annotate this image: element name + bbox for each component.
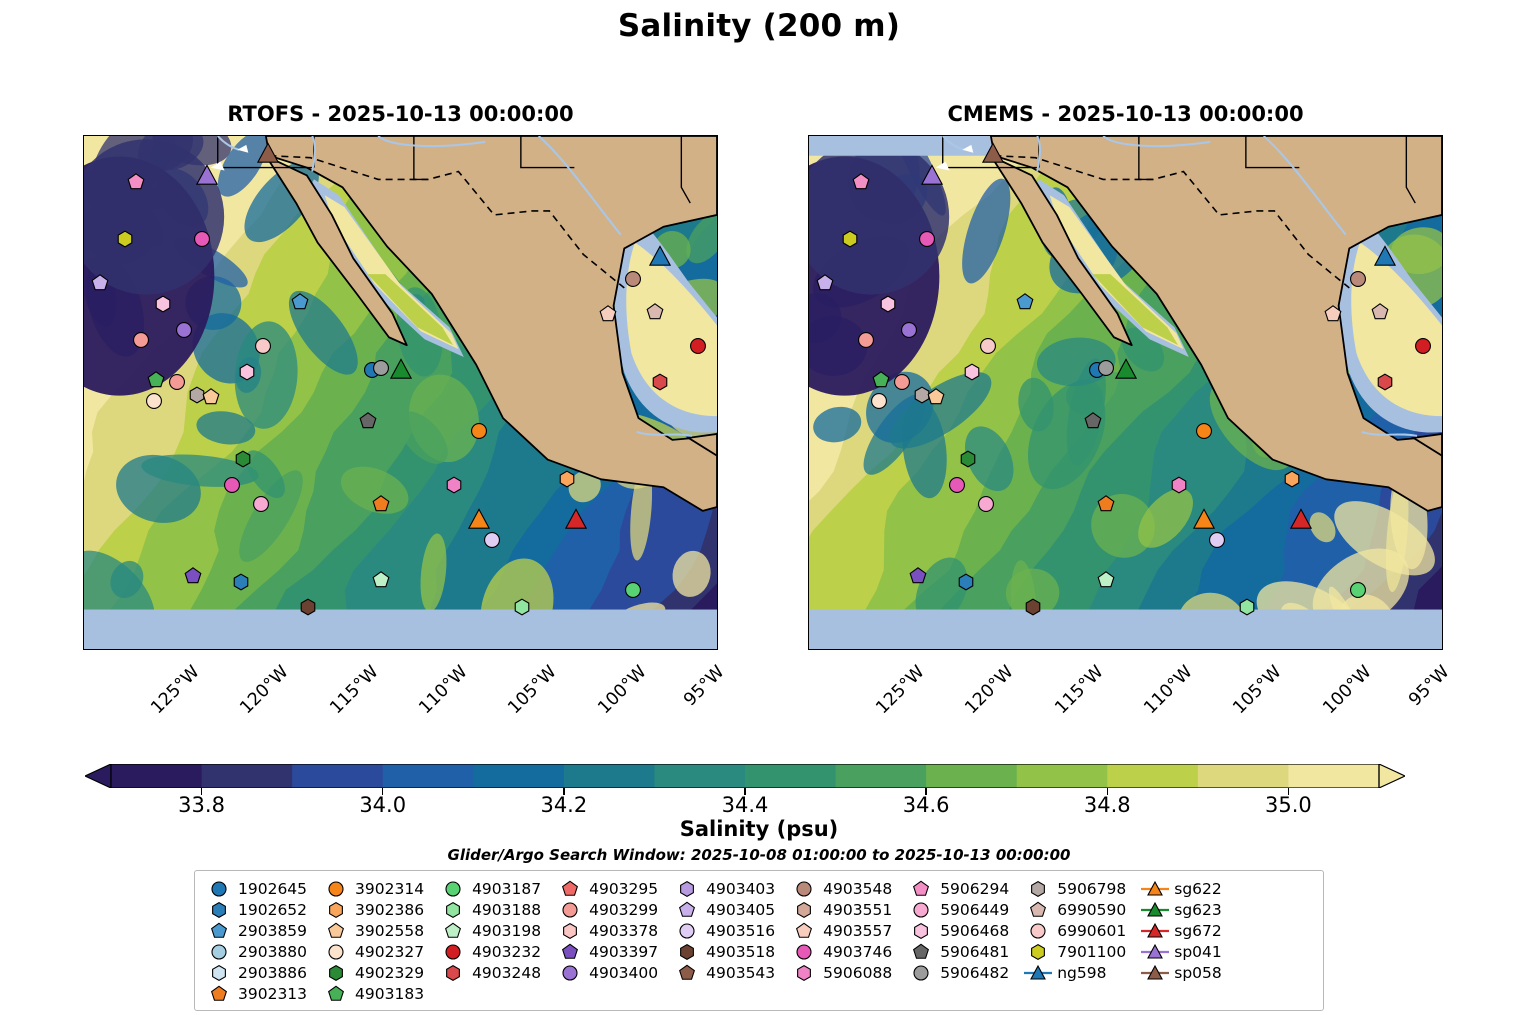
legend-item-5906088[interactable]: 5906088: [789, 962, 892, 983]
x-tick-label: 95°W: [1405, 662, 1453, 710]
platform-marker-3902313[interactable]: [372, 496, 389, 513]
legend-marker-triangle-line-icon: [1140, 964, 1170, 982]
legend-item-ng598[interactable]: ng598: [1023, 962, 1126, 983]
legend-label: 2903880: [234, 943, 307, 961]
x-minor-tick: [611, 649, 612, 650]
y-minor-tick: [808, 227, 809, 228]
legend-column-7: 5906798699059069906017901100ng598: [1023, 878, 1126, 983]
legend-item-sg672[interactable]: sg672: [1140, 920, 1222, 941]
platform-marker-4903746[interactable]: [194, 231, 211, 248]
x-tick-label: 110°W: [415, 662, 471, 718]
legend-item-3902313[interactable]: 3902313: [204, 983, 307, 1004]
x-tick-label: 115°W: [326, 662, 382, 718]
platform-marker-5906468b[interactable]: [238, 363, 255, 380]
legend-label: 7901100: [1053, 943, 1126, 961]
x-minor-tick: [1426, 649, 1427, 650]
legend-item-sp058[interactable]: sp058: [1140, 962, 1222, 983]
map-rtofs[interactable]: 10°N15°N20°N25°N30°N: [83, 135, 718, 650]
platform-marker-4903557[interactable]: [600, 306, 617, 323]
legend-marker-circle-icon: [789, 881, 819, 897]
search-window-text: Glider/Argo Search Window: 2025-10-08 01…: [0, 846, 1518, 864]
x-tick-label: 110°W: [1140, 662, 1196, 718]
panel-rtofs: RTOFS - 2025-10-13 00:00:00 10°N15°N20°N…: [83, 135, 718, 650]
legend-marker-circle-icon: [906, 965, 936, 981]
platform-marker-3902558[interactable]: [928, 389, 945, 406]
platform-marker-sp041[interactable]: [922, 165, 943, 186]
x-minor-tick: [925, 649, 926, 650]
platform-marker-5906449[interactable]: [253, 496, 270, 513]
legend-label: sp041: [1170, 943, 1222, 961]
platform-marker-ng598[interactable]: [1374, 246, 1395, 267]
platform-marker-4903746[interactable]: [919, 231, 936, 248]
x-minor-tick: [1372, 649, 1373, 650]
legend-column-5: 49035484903551490355749037465906088: [789, 878, 892, 983]
legend-item-4903397[interactable]: 4903397: [555, 941, 658, 962]
map-field-rtofs: [84, 136, 717, 649]
platform-marker-3902386[interactable]: [1283, 470, 1300, 487]
legend-label: 3902386: [351, 901, 424, 919]
y-tick: [83, 405, 84, 407]
y-minor-tick: [1442, 623, 1443, 624]
legend-marker-circle-icon: [555, 965, 585, 981]
platform-marker-5906482[interactable]: [1097, 359, 1114, 376]
platform-marker-7901100[interactable]: [842, 231, 859, 248]
y-minor-tick: [83, 563, 84, 564]
platform-marker-4903405[interactable]: [92, 274, 109, 291]
legend-item-4903405[interactable]: 4903405: [672, 899, 775, 920]
legend-label: 4903378: [585, 922, 658, 940]
legend-marker-circle-icon: [438, 944, 468, 960]
platform-marker-5906294[interactable]: [852, 173, 869, 190]
legend-marker-circle-icon: [1023, 923, 1053, 939]
x-tick-label: 120°W: [237, 662, 293, 718]
legend-item-5906449[interactable]: 5906449: [906, 899, 1009, 920]
x-minor-tick: [1265, 649, 1266, 650]
y-tick: [808, 306, 809, 308]
platform-marker-1902652[interactable]: [233, 573, 250, 590]
legend-item-4903299[interactable]: 4903299: [555, 899, 658, 920]
legend-label: 4903403: [702, 880, 775, 898]
colorbar-tick-label: 34.4: [722, 793, 769, 817]
legend-label: 4902329: [351, 964, 424, 982]
y-minor-tick: [717, 425, 718, 426]
y-minor-tick: [83, 543, 84, 544]
platform-marker-4903299[interactable]: [858, 332, 875, 349]
platform-marker-4903248[interactable]: [651, 373, 668, 390]
legend-marker-hexagon-icon: [204, 902, 234, 918]
platform-marker-1902652[interactable]: [958, 573, 975, 590]
legend-label: 3902314: [351, 880, 424, 898]
platform-marker-4903518[interactable]: [1024, 599, 1041, 616]
x-minor-tick: [432, 649, 433, 650]
y-tick: [83, 306, 84, 308]
legend-marker-triangle-line-icon: [1140, 922, 1170, 940]
y-minor-tick: [808, 543, 809, 544]
legend-item-4902329[interactable]: 4902329: [321, 962, 424, 983]
legend-label: 4903746: [819, 943, 892, 961]
legend-item-4903248[interactable]: 4903248: [438, 962, 541, 983]
y-minor-tick: [1442, 464, 1443, 465]
platform-marker-4903232[interactable]: [1414, 337, 1431, 354]
y-minor-tick: [808, 444, 809, 445]
legend-marker-hexagon-icon: [204, 965, 234, 981]
y-minor-tick: [83, 623, 84, 624]
x-minor-tick: [871, 649, 872, 650]
map-field-cmems: [809, 136, 1442, 649]
y-minor-tick: [808, 425, 809, 426]
x-tick-label: 95°W: [680, 662, 728, 710]
platform-marker-sg622[interactable]: [469, 510, 490, 531]
y-minor-tick: [83, 444, 84, 445]
y-minor-tick: [1442, 642, 1443, 643]
platform-marker-4903548[interactable]: [1350, 270, 1367, 287]
platform-marker-4903516[interactable]: [483, 532, 500, 549]
x-tick: [1032, 649, 1034, 650]
platform-marker-3902314[interactable]: [1196, 423, 1213, 440]
legend-label: 4903543: [702, 964, 775, 982]
legend-label: 4903299: [585, 901, 658, 919]
x-minor-tick: [996, 649, 997, 650]
legend-column-4: 49034034903405490351649035184903543: [672, 878, 775, 983]
legend-item-4903188[interactable]: 4903188: [438, 899, 541, 920]
x-minor-tick: [1282, 649, 1283, 650]
legend-item-6990601[interactable]: 6990601: [1023, 920, 1126, 941]
y-minor-tick: [808, 385, 809, 386]
legend-marker-circle-icon: [555, 902, 585, 918]
legend-item-4903378[interactable]: 4903378: [555, 920, 658, 941]
x-minor-tick: [182, 649, 183, 650]
platform-marker-7901100[interactable]: [117, 231, 134, 248]
x-minor-tick: [504, 649, 505, 650]
y-minor-tick: [808, 266, 809, 267]
platform-marker-2903859[interactable]: [292, 294, 309, 311]
legend-item-4902327[interactable]: 4902327: [321, 941, 424, 962]
legend-item-4903295[interactable]: 4903295: [555, 878, 658, 899]
y-minor-tick: [1442, 286, 1443, 287]
legend-label: 4903397: [585, 943, 658, 961]
legend-label: 1902645: [234, 880, 307, 898]
x-minor-tick: [414, 649, 415, 650]
platform-marker-5906294[interactable]: [127, 173, 144, 190]
y-minor-tick: [808, 623, 809, 624]
platform-marker-4903400[interactable]: [901, 322, 918, 339]
y-minor-tick: [1442, 227, 1443, 228]
platform-marker-4903518[interactable]: [299, 599, 316, 616]
legend-marker-circle-icon: [321, 881, 351, 897]
platform-marker-sg672[interactable]: [565, 510, 586, 531]
legend-marker-triangle-line-icon: [1140, 880, 1170, 898]
legend-item-5906482[interactable]: 5906482: [906, 962, 1009, 983]
legend-label: sg622: [1170, 880, 1222, 898]
platform-marker-4903183[interactable]: [872, 371, 889, 388]
platform-marker-5906449[interactable]: [978, 496, 995, 513]
x-tick: [1390, 649, 1392, 650]
x-minor-tick: [1247, 649, 1248, 650]
colorbar-label: Salinity (psu): [0, 817, 1518, 841]
y-minor-tick: [1442, 345, 1443, 346]
y-tick: [717, 405, 718, 407]
legend-label: 4903551: [819, 901, 892, 919]
platform-marker-4903397[interactable]: [185, 567, 202, 584]
platform-marker-4903198[interactable]: [372, 571, 389, 588]
legend-item-4903198[interactable]: 4903198: [438, 920, 541, 941]
platform-marker-4903400[interactable]: [176, 322, 193, 339]
y-minor-tick: [83, 345, 84, 346]
x-minor-tick: [978, 649, 979, 650]
platform-marker-4903299[interactable]: [133, 332, 150, 349]
y-minor-tick: [83, 246, 84, 247]
legend-item-4903551[interactable]: 4903551: [789, 899, 892, 920]
platform-marker-sg623[interactable]: [1115, 359, 1136, 380]
y-minor-tick: [808, 365, 809, 366]
legend-item-4903516[interactable]: 4903516: [672, 920, 775, 941]
legend-label: 4903188: [468, 901, 541, 919]
platform-marker-4903232[interactable]: [689, 337, 706, 354]
x-minor-tick: [1318, 649, 1319, 650]
y-minor-tick: [717, 286, 718, 287]
y-minor-tick: [808, 147, 809, 148]
x-tick: [575, 649, 577, 650]
platform-marker-4903548[interactable]: [625, 270, 642, 287]
y-minor-tick: [83, 365, 84, 366]
colorbar-tick-label: 34.6: [903, 793, 950, 817]
legend-item-6990590[interactable]: 6990590: [1023, 899, 1126, 920]
legend-marker-hexagon-icon: [438, 965, 468, 981]
legend-item-4903183[interactable]: 4903183: [321, 983, 424, 1004]
x-minor-tick: [343, 649, 344, 650]
platform-marker-4903248[interactable]: [1376, 373, 1393, 390]
platform-marker-5906468[interactable]: [154, 296, 171, 313]
x-minor-tick: [1157, 649, 1158, 650]
legend-item-sg622[interactable]: sg622: [1140, 878, 1222, 899]
legend-label: 4903516: [702, 922, 775, 940]
legend-item-5906294[interactable]: 5906294: [906, 878, 1009, 899]
x-minor-tick: [1354, 649, 1355, 650]
legend-marker-hexagon-icon: [1023, 944, 1053, 960]
y-tick: [717, 306, 718, 308]
y-minor-tick: [83, 583, 84, 584]
colorbar-tick-label: 33.8: [178, 793, 225, 817]
legend-item-2903859[interactable]: 2903859: [204, 920, 307, 941]
platform-marker-4903299b[interactable]: [894, 373, 911, 390]
y-minor-tick: [717, 623, 718, 624]
platform-marker-4902329[interactable]: [235, 450, 252, 467]
platform-marker-4903746b[interactable]: [949, 476, 966, 493]
y-tick: [83, 207, 84, 209]
y-minor-tick: [83, 227, 84, 228]
x-minor-tick: [164, 649, 165, 650]
legend-marker-hexagon-icon: [789, 965, 819, 981]
platform-marker-4902327[interactable]: [870, 393, 887, 410]
platform-marker-6990601[interactable]: [254, 337, 271, 354]
colorbar-tick-label: 34.2: [540, 793, 587, 817]
x-tick-label: 105°W: [1230, 662, 1286, 718]
platform-marker-5906468[interactable]: [879, 296, 896, 313]
x-minor-tick: [889, 649, 890, 650]
legend-marker-pentagon-icon: [321, 923, 351, 939]
legend-item-2903886[interactable]: 2903886: [204, 962, 307, 983]
y-minor-tick: [717, 345, 718, 346]
platform-marker-4903746b[interactable]: [224, 476, 241, 493]
platform-marker-2903859[interactable]: [1017, 294, 1034, 311]
y-minor-tick: [1442, 326, 1443, 327]
platform-marker-4903188[interactable]: [514, 599, 531, 616]
platform-marker-sp041[interactable]: [197, 165, 218, 186]
y-minor-tick: [808, 187, 809, 188]
legend-column-2: 49031874903188490319849032324903248: [438, 878, 541, 983]
legend-marker-hexagon-icon: [555, 923, 585, 939]
x-minor-tick: [835, 649, 836, 650]
x-tick: [396, 649, 398, 650]
x-minor-tick: [146, 649, 147, 650]
x-minor-tick: [1408, 649, 1409, 650]
platform-marker-sg672[interactable]: [1290, 510, 1311, 531]
y-minor-tick: [83, 385, 84, 386]
x-tick: [486, 649, 488, 650]
platform-marker-5906468b[interactable]: [963, 363, 980, 380]
platform-marker-5906088[interactable]: [1171, 476, 1188, 493]
platform-marker-5906482[interactable]: [372, 359, 389, 376]
x-minor-tick: [1014, 649, 1015, 650]
x-tick-label: 125°W: [872, 662, 928, 718]
y-minor-tick: [1442, 187, 1443, 188]
legend-marker-hexagon-icon: [321, 965, 351, 981]
legend-marker-hexagon-icon: [1023, 881, 1053, 897]
legend-item-4903746[interactable]: 4903746: [789, 941, 892, 962]
platform-marker-4903299b[interactable]: [169, 373, 186, 390]
platform-marker-4903405[interactable]: [817, 274, 834, 291]
colorbar-tick-label: 35.0: [1265, 793, 1312, 817]
y-minor-tick: [717, 365, 718, 366]
platform-marker-4902329[interactable]: [960, 450, 977, 467]
legend-item-3902558[interactable]: 3902558: [321, 920, 424, 941]
legend-item-7901100[interactable]: 7901100: [1023, 941, 1126, 962]
legend-item-sg623[interactable]: sg623: [1140, 899, 1222, 920]
x-minor-tick: [593, 649, 594, 650]
legend-column-3: 49032954903299490337849033974903400: [555, 878, 658, 983]
platform-marker-4902327[interactable]: [145, 393, 162, 410]
legend-item-3902314[interactable]: 3902314: [321, 878, 424, 899]
legend-item-1902652[interactable]: 1902652: [204, 899, 307, 920]
platform-marker-3902314[interactable]: [471, 423, 488, 440]
legend-item-4903403[interactable]: 4903403: [672, 878, 775, 899]
legend-marker-pentagon-icon: [672, 902, 702, 918]
platform-marker-6990590[interactable]: [1371, 304, 1388, 321]
legend-label: 4903232: [468, 943, 541, 961]
platform-marker-3902386[interactable]: [558, 470, 575, 487]
legend-item-4903518[interactable]: 4903518: [672, 941, 775, 962]
x-minor-tick: [683, 649, 684, 650]
legend-label: sg623: [1170, 901, 1222, 919]
x-minor-tick: [557, 649, 558, 650]
y-minor-tick: [717, 227, 718, 228]
legend-item-sp041[interactable]: sp041: [1140, 941, 1222, 962]
legend-item-4903400[interactable]: 4903400: [555, 962, 658, 983]
legend-marker-pentagon-icon: [321, 986, 351, 1002]
legend-item-4903557[interactable]: 4903557: [789, 920, 892, 941]
legend-label: 4903518: [702, 943, 775, 961]
legend-item-4903548[interactable]: 4903548: [789, 878, 892, 899]
platform-marker-5906481[interactable]: [360, 413, 377, 430]
y-minor-tick: [1442, 583, 1443, 584]
platform-marker-5906481[interactable]: [1085, 413, 1102, 430]
legend-item-4903187[interactable]: 4903187: [438, 878, 541, 899]
y-minor-tick: [83, 147, 84, 148]
platform-marker-4903187[interactable]: [625, 581, 642, 598]
platform-marker-4903198[interactable]: [1097, 571, 1114, 588]
legend-marker-pentagon-icon: [204, 923, 234, 939]
y-minor-tick: [1442, 484, 1443, 485]
legend-item-5906481[interactable]: 5906481: [906, 941, 1009, 962]
x-minor-tick: [1104, 649, 1105, 650]
x-minor-tick: [1086, 649, 1087, 650]
y-tick: [1442, 306, 1443, 308]
platform-marker-4903516[interactable]: [1208, 532, 1225, 549]
legend-item-5906798[interactable]: 5906798: [1023, 878, 1126, 899]
y-minor-tick: [1442, 444, 1443, 445]
legend-item-1902645[interactable]: 1902645: [204, 878, 307, 899]
map-cmems[interactable]: 10°N15°N20°N25°N30°N: [808, 135, 1443, 650]
legend-item-4903543[interactable]: 4903543: [672, 962, 775, 983]
x-minor-tick: [271, 649, 272, 650]
platform-marker-sg623[interactable]: [390, 359, 411, 380]
x-minor-tick: [1050, 649, 1051, 650]
platform-marker-4903397[interactable]: [910, 567, 927, 584]
platform-marker-4903188[interactable]: [1239, 599, 1256, 616]
platform-marker-5906088[interactable]: [446, 476, 463, 493]
platform-marker-6990601[interactable]: [979, 337, 996, 354]
legend-column-0: 1902645190265229038592903880290388639023…: [204, 878, 307, 1004]
platform-marker-sg622[interactable]: [1194, 510, 1215, 531]
platform-marker-sp058[interactable]: [258, 143, 279, 164]
legend-marker-pentagon-icon: [789, 923, 819, 939]
y-minor-tick: [717, 246, 718, 247]
y-minor-tick: [808, 563, 809, 564]
y-tick: [808, 504, 809, 506]
y-tick: [808, 603, 809, 605]
legend-item-3902386[interactable]: 3902386: [321, 899, 424, 920]
y-minor-tick: [83, 286, 84, 287]
legend-label: 4903187: [468, 880, 541, 898]
x-minor-tick: [817, 649, 818, 650]
legend-marker-hexagon-icon: [438, 902, 468, 918]
colorbar-tick-label: 34.0: [359, 793, 406, 817]
legend-label: 5906482: [936, 964, 1009, 982]
legend-item-5906468[interactable]: 5906468: [906, 920, 1009, 941]
y-minor-tick: [808, 464, 809, 465]
y-minor-tick: [717, 147, 718, 148]
y-minor-tick: [83, 642, 84, 643]
x-tick: [1121, 649, 1123, 650]
x-minor-tick: [907, 649, 908, 650]
platform-marker-4903183[interactable]: [147, 371, 164, 388]
x-tick: [128, 649, 130, 650]
legend-item-2903880[interactable]: 2903880: [204, 941, 307, 962]
y-tick: [1442, 207, 1443, 209]
platform-marker-3902313[interactable]: [1097, 496, 1114, 513]
y-minor-tick: [83, 167, 84, 168]
platform-marker-6990590[interactable]: [646, 304, 663, 321]
legend-item-4903232[interactable]: 4903232: [438, 941, 541, 962]
platform-marker-sp058[interactable]: [983, 143, 1004, 164]
platform-marker-4903187[interactable]: [1350, 581, 1367, 598]
platform-marker-4903557[interactable]: [1325, 306, 1342, 323]
legend-marker-hexagon-icon: [672, 881, 702, 897]
platform-marker-ng598[interactable]: [649, 246, 670, 267]
platform-marker-3902558[interactable]: [203, 389, 220, 406]
x-tick-label: 125°W: [147, 662, 203, 718]
x-minor-tick: [1193, 649, 1194, 650]
